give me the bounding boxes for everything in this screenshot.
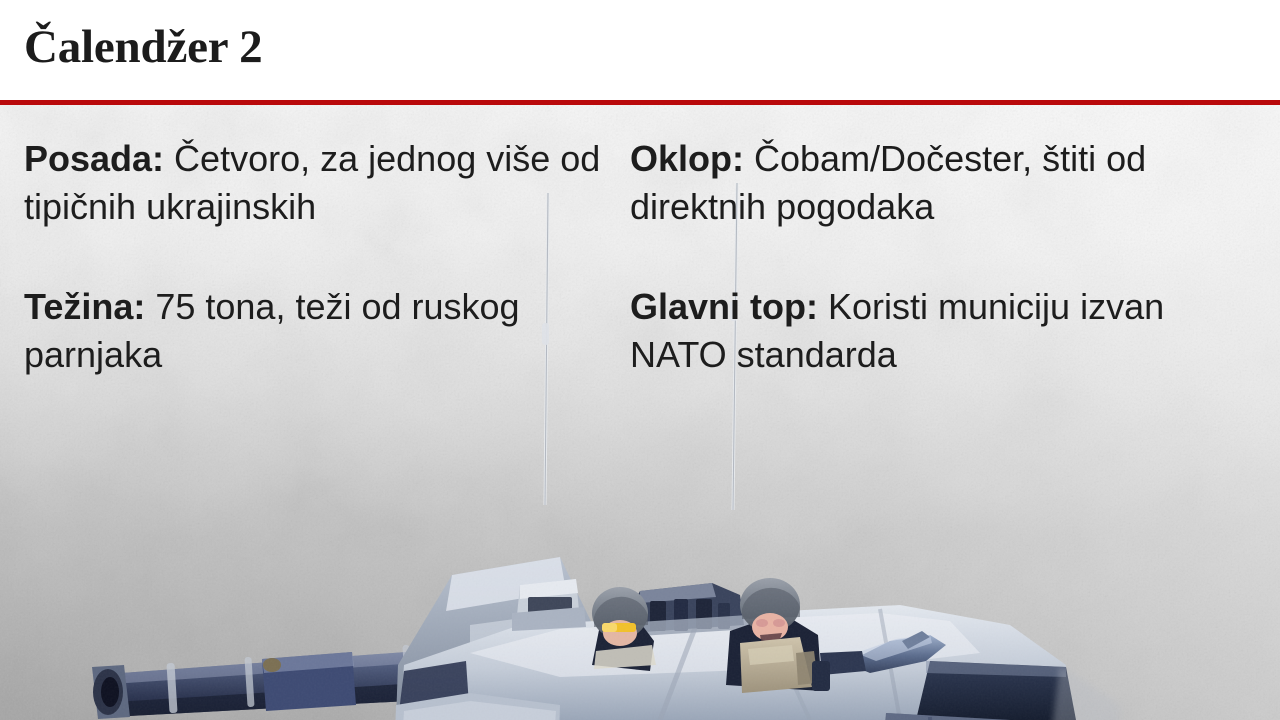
accent-rule bbox=[0, 100, 1280, 105]
fact-glavni-top: Glavni top: Koristi municiju izvan NATO … bbox=[630, 283, 1250, 379]
fact-tezina: Težina: 75 tona, teži od ruskog parnjaka bbox=[24, 283, 604, 379]
fact-oklop-label: Oklop: bbox=[630, 138, 744, 179]
fact-posada: Posada: Četvoro, za jednog više od tipič… bbox=[24, 135, 604, 231]
fact-glavni-top-label: Glavni top: bbox=[630, 286, 818, 327]
fact-oklop: Oklop: Čobam/Dočester, štiti od direktni… bbox=[630, 135, 1250, 231]
page-title: Čalendžer 2 bbox=[24, 18, 262, 76]
fact-posada-label: Posada: bbox=[24, 138, 164, 179]
infographic-card: Posada: Četvoro, za jednog više od tipič… bbox=[0, 0, 1280, 720]
header-bar: Čalendžer 2 bbox=[0, 0, 1280, 100]
fact-tezina-label: Težina: bbox=[24, 286, 145, 327]
